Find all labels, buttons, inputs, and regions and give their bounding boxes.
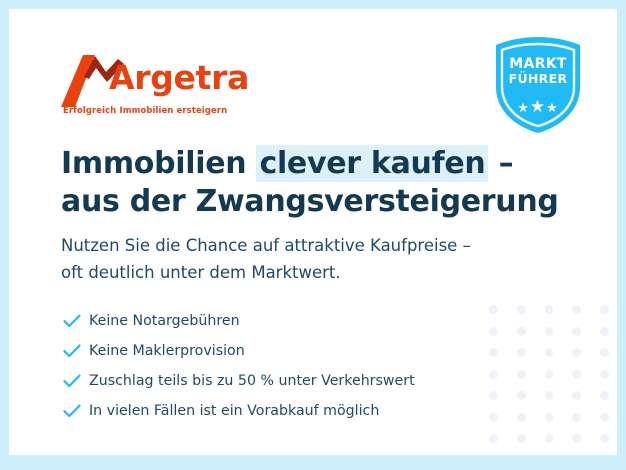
check-icon: [63, 404, 89, 418]
dot: [545, 391, 554, 400]
headline-line-1: Immobilien clever kaufen –: [61, 145, 561, 183]
list-item-label: Zuschlag teils bis zu 50 % unter Verkehr…: [89, 373, 415, 389]
dot: [600, 434, 609, 443]
logo-wordmark: Argetra: [109, 61, 249, 94]
headline-line-2: aus der Zwangsversteigerung: [61, 183, 561, 221]
subheadline-line-2: oft deutlich unter dem Marktwert.: [61, 260, 581, 287]
market-leader-badge: MARKT FÜHRER ★★★: [490, 35, 586, 135]
check-icon: [63, 314, 89, 328]
dot: [572, 305, 581, 314]
dot: [572, 348, 581, 357]
dot: [572, 434, 581, 443]
dot: [545, 305, 554, 314]
dot: [545, 370, 554, 379]
dot: [545, 327, 554, 336]
dot: [572, 370, 581, 379]
dot: [517, 305, 526, 314]
dot: [572, 413, 581, 422]
list-item-label: Keine Notargebühren: [89, 313, 240, 329]
badge-stars: ★★★: [490, 97, 586, 117]
promo-banner: Argetra Erfolgreich Immobilien ersteiger…: [0, 0, 626, 470]
dot: [600, 370, 609, 379]
list-item: Keine Notargebühren: [63, 306, 513, 336]
dot: [600, 348, 609, 357]
subheadline-line-1: Nutzen Sie die Chance auf attraktive Kau…: [61, 233, 581, 260]
dot: [600, 391, 609, 400]
dot: [517, 348, 526, 357]
dot: [545, 413, 554, 422]
dot: [517, 391, 526, 400]
headline-pre: Immobilien: [61, 146, 256, 181]
banner-inner-surface: Argetra Erfolgreich Immobilien ersteiger…: [9, 9, 617, 455]
dot: [517, 327, 526, 336]
benefits-checklist: Keine NotargebührenKeine Maklerprovision…: [63, 306, 513, 426]
check-icon: [63, 344, 89, 358]
badge-text: MARKT FÜHRER: [490, 57, 586, 85]
argetra-logo: Argetra Erfolgreich Immobilien ersteiger…: [61, 53, 251, 118]
star-icon: ★: [546, 100, 559, 115]
list-item: Zuschlag teils bis zu 50 % unter Verkehr…: [63, 366, 513, 396]
check-icon: [63, 374, 89, 388]
dot: [572, 391, 581, 400]
dot: [545, 348, 554, 357]
page-title: Immobilien clever kaufen – aus der Zwang…: [61, 145, 561, 221]
list-item-label: In vielen Fällen ist ein Vorabkauf mögli…: [89, 403, 379, 419]
dot: [600, 327, 609, 336]
list-item: In vielen Fällen ist ein Vorabkauf mögli…: [63, 396, 513, 426]
list-item-label: Keine Maklerprovision: [89, 343, 245, 359]
star-icon: ★: [530, 97, 546, 116]
dot: [600, 305, 609, 314]
badge-line-1: MARKT: [490, 57, 586, 72]
logo-tagline: Erfolgreich Immobilien ersteigern: [63, 105, 227, 115]
dot-row: [489, 434, 609, 443]
list-item: Keine Maklerprovision: [63, 336, 513, 366]
dot: [545, 434, 554, 443]
star-icon: ★: [517, 100, 530, 115]
dot: [517, 413, 526, 422]
badge-line-2: FÜHRER: [490, 72, 586, 85]
headline-highlight: clever kaufen: [256, 145, 488, 182]
headline-post: –: [488, 146, 513, 181]
subheadline: Nutzen Sie die Chance auf attraktive Kau…: [61, 233, 581, 286]
dot: [489, 434, 498, 443]
dot: [572, 327, 581, 336]
dot: [517, 434, 526, 443]
dot: [517, 370, 526, 379]
dot: [600, 413, 609, 422]
